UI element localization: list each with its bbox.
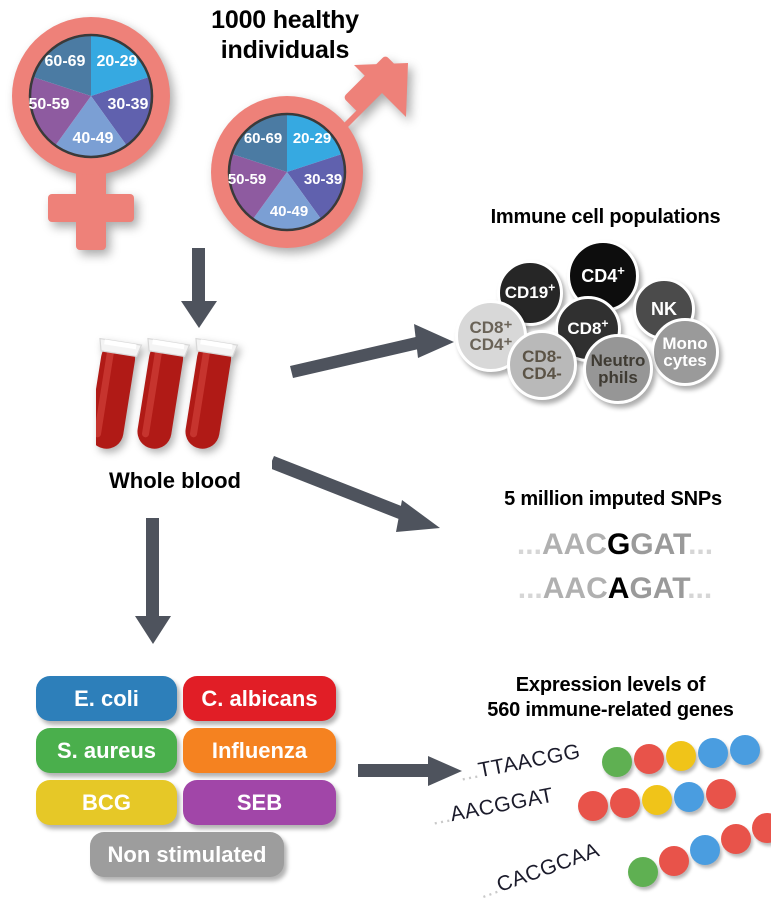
blood-tube-3 xyxy=(179,339,237,452)
immune-cell-label: NK xyxy=(651,300,677,319)
strand-middle-bead xyxy=(610,788,640,818)
snp-sequences: ...AACGGAT......AACAGAT... xyxy=(470,528,760,614)
strand-bottom-bead xyxy=(752,813,771,843)
immune-cell-monocytes: Monocytes xyxy=(651,318,719,386)
stimulus-influenza[interactable]: Influenza xyxy=(183,728,336,773)
genes-section-title: Expression levels of 560 immune-related … xyxy=(450,673,771,723)
female-symbol: 20-29 30-39 40-49 50-59 60-69 xyxy=(8,12,198,257)
arrow-blood-to-stimuli xyxy=(126,518,180,651)
snp-sequence-row: ...AACGGAT... xyxy=(470,528,760,562)
page-title-line1: 1000 healthy xyxy=(170,6,400,36)
genes-title-line1: Expression levels of xyxy=(450,673,771,698)
female-pie-label-50-59: 50-59 xyxy=(29,96,70,113)
genes-title-line2: 560 immune-related genes xyxy=(450,698,771,723)
immune-cell-label: CD4+ xyxy=(581,267,625,286)
whole-blood-label: Whole blood xyxy=(80,468,270,494)
snp-sequence-row: ...AACAGAT... xyxy=(470,572,760,606)
strand-bottom-bead xyxy=(721,824,751,854)
stimuli-panel: E. coliC. albicansS. aureusInfluenzaBCGS… xyxy=(36,676,336,898)
strand-middle-bead xyxy=(642,785,672,815)
snps-section-title: 5 million imputed SNPs xyxy=(455,488,771,512)
arrow-blood-to-immune xyxy=(288,318,463,393)
blood-tube-2 xyxy=(131,339,189,452)
stimulus-label: SEB xyxy=(237,790,282,816)
arrow-blood-to-snps xyxy=(272,448,462,553)
whole-blood-tubes xyxy=(96,330,256,465)
male-pie-label-50-59: 50-59 xyxy=(228,171,266,188)
immune-cell-cluster: CD4+CD19+NKCD8+CD8⁺CD4⁺MonocytesCD8-CD4-… xyxy=(455,238,771,418)
male-symbol: 20-29 30-39 40-49 50-59 60-69 xyxy=(202,62,412,257)
strand-middle-bead xyxy=(706,779,736,809)
female-pie-label-20-29: 20-29 xyxy=(97,53,138,70)
immune-cell-label: Neutrophils xyxy=(591,352,646,387)
immune-cell-label: CD19+ xyxy=(505,284,556,302)
male-pie-label-20-29: 20-29 xyxy=(293,130,331,147)
female-pie-label-60-69: 60-69 xyxy=(45,53,86,70)
immune-section-title: Immune cell populations xyxy=(440,206,771,230)
stimulus-seb[interactable]: SEB xyxy=(183,780,336,825)
stimulus-s-aureus[interactable]: S. aureus xyxy=(36,728,177,773)
male-pie-label-30-39: 30-39 xyxy=(304,171,342,188)
stimulus-label: E. coli xyxy=(74,686,139,712)
stimulus-label: Non stimulated xyxy=(108,842,267,868)
page-title-line2: individuals xyxy=(170,36,400,66)
strand-top-bead xyxy=(666,741,696,771)
strand-top-sequence: ...TTAACGG xyxy=(458,740,583,787)
stimulus-label: Influenza xyxy=(212,738,307,764)
stimulus-e-coli[interactable]: E. coli xyxy=(36,676,177,721)
strand-bottom-sequence: ...CACGCAA xyxy=(476,839,603,905)
strand-top-bead xyxy=(698,738,728,768)
female-pie-label-40-49: 40-49 xyxy=(73,130,114,147)
strand-middle-bead xyxy=(674,782,704,812)
strand-bottom-bead xyxy=(659,846,689,876)
stimulus-bcg[interactable]: BCG xyxy=(36,780,177,825)
strand-bottom-bead xyxy=(690,835,720,865)
blood-tube-1 xyxy=(96,339,141,452)
page-title: 1000 healthy individuals xyxy=(170,6,400,65)
strand-middle-bead xyxy=(578,791,608,821)
male-pie-label-60-69: 60-69 xyxy=(244,130,282,147)
gene-expression-strands: ...TTAACGG...AACGGAT...CACGCAA xyxy=(450,735,771,915)
strand-top-bead xyxy=(730,735,760,765)
strand-bottom-bead xyxy=(628,857,658,887)
arrow-cohort-to-blood xyxy=(172,248,226,335)
stimulus-label: C. albicans xyxy=(201,686,317,712)
immune-cell-label: CD8⁺CD4⁺ xyxy=(470,319,513,354)
immune-cell-cd8neg-cd4neg: CD8-CD4- xyxy=(507,330,577,400)
stimulus-label: BCG xyxy=(82,790,131,816)
arrow-stimuli-to-genes xyxy=(358,752,464,797)
figure-canvas: 1000 healthy individuals 20-29 30-39 40-… xyxy=(0,0,771,922)
stimulus-non-stimulated[interactable]: Non stimulated xyxy=(90,832,284,877)
immune-cell-label: Monocytes xyxy=(662,335,707,370)
female-pie-label-30-39: 30-39 xyxy=(108,96,149,113)
immune-cell-label: CD8-CD4- xyxy=(522,348,562,383)
immune-cell-neutrophils: Neutrophils xyxy=(583,334,653,404)
immune-cell-label: CD8+ xyxy=(567,320,608,338)
male-pie-label-40-49: 40-49 xyxy=(270,203,308,220)
strand-top-bead xyxy=(602,747,632,777)
stimulus-label: S. aureus xyxy=(57,738,156,764)
strand-top-bead xyxy=(634,744,664,774)
stimulus-c-albicans[interactable]: C. albicans xyxy=(183,676,336,721)
